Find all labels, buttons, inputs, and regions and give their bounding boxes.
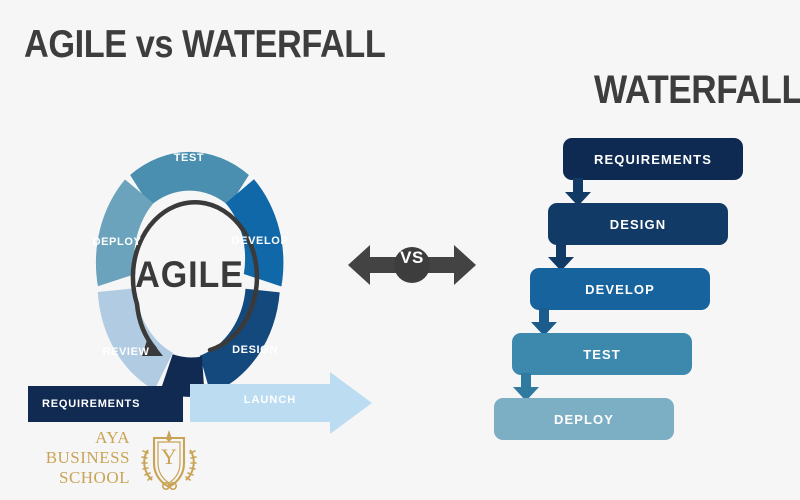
launch-arrow-label: LAUNCH — [190, 394, 350, 406]
agile-center-label: AGILE — [72, 254, 307, 296]
agile-label-deploy: DEPLOY — [93, 236, 142, 248]
logo-line-2: BUSINESS — [18, 448, 130, 468]
waterfall-step-develop[interactable]: DEVELOP — [530, 268, 710, 310]
waterfall-arrow-1 — [565, 178, 591, 206]
waterfall-arrow-2 — [548, 243, 574, 271]
vs-label: VS — [348, 248, 476, 268]
agile-label-develop: DEVELOP — [232, 235, 289, 247]
waterfall-step-design-label: DESIGN — [610, 217, 666, 232]
waterfall-step-design[interactable]: DESIGN — [548, 203, 728, 245]
waterfall-step-test[interactable]: TEST — [512, 333, 692, 375]
waterfall-diagram: REQUIREMENTS DESIGN DEVELOP TEST DEPLOY — [485, 138, 775, 443]
agile-requirements-chip[interactable]: REQUIREMENTS — [28, 386, 183, 422]
logo-line-3: SCHOOL — [18, 468, 130, 488]
page-title: AGILE vs WATERFALL — [24, 23, 385, 67]
crest-letter: Y — [161, 444, 177, 469]
waterfall-section-title: WATERFALL — [594, 68, 800, 113]
waterfall-step-develop-label: DEVELOP — [585, 282, 655, 297]
waterfall-step-test-label: TEST — [583, 347, 621, 362]
logo-line-1: AYA — [18, 428, 130, 448]
slide-canvas: AGILE vs WATERFALL WATERFALL TEST DEVELO… — [0, 0, 800, 500]
agile-label-design: DESIGN — [232, 344, 278, 356]
aya-business-school-logo: AYA BUSINESS SCHOOL Y — [18, 428, 208, 496]
agile-label-test: TEST — [174, 152, 205, 164]
waterfall-step-deploy-label: DEPLOY — [554, 412, 614, 427]
agile-label-review: REVIEW — [103, 346, 150, 358]
waterfall-step-deploy[interactable]: DEPLOY — [494, 398, 674, 440]
crest-icon: Y — [136, 430, 202, 494]
waterfall-step-requirements[interactable]: REQUIREMENTS — [563, 138, 743, 180]
waterfall-step-requirements-label: REQUIREMENTS — [594, 152, 712, 167]
waterfall-arrow-4 — [513, 373, 539, 401]
agile-requirements-label: REQUIREMENTS — [42, 398, 140, 410]
waterfall-arrow-3 — [531, 308, 557, 336]
